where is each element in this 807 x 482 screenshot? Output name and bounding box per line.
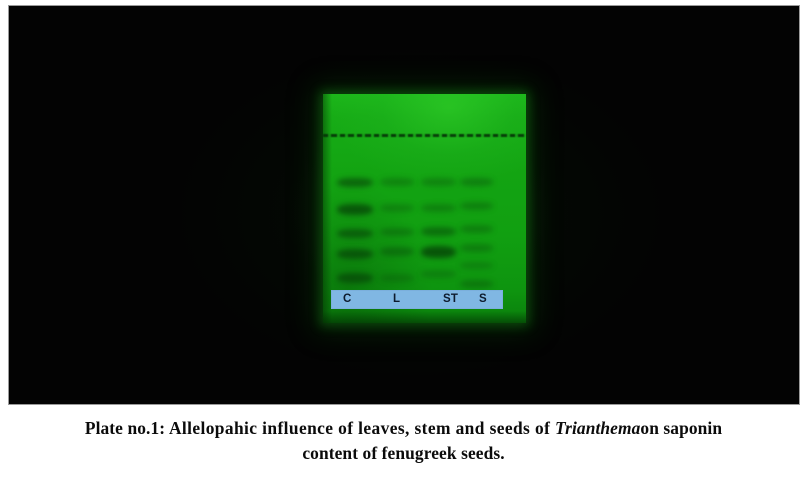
tlc-band [460, 225, 493, 233]
tlc-band [337, 273, 373, 283]
stem-lane [421, 94, 456, 323]
plate-left-shadow [323, 94, 332, 323]
tlc-band [460, 244, 493, 252]
tlc-band [421, 246, 456, 258]
lane-label-st: ST [443, 294, 458, 306]
figure-root: CLSTS Plate no.1: Allelopahic influence … [0, 0, 807, 482]
tlc-band [421, 227, 456, 236]
caption-line-1: Plate no.1: Allelopahic influence of lea… [85, 418, 722, 438]
tlc-band [380, 228, 414, 236]
tlc-band [337, 204, 373, 215]
tlc-band [337, 178, 373, 187]
tlc-band [460, 262, 493, 269]
tlc-band [337, 249, 373, 259]
tlc-band [460, 202, 493, 210]
tlc-band [421, 204, 456, 212]
lane-label-strip: CLSTS [331, 290, 503, 309]
lane-label-s: S [479, 294, 487, 306]
tlc-band [460, 280, 493, 288]
caption-prefix: Plate no.1: [85, 418, 165, 438]
tlc-band [380, 204, 414, 212]
caption-italic-term: Trianthema [555, 418, 640, 438]
caption-line-2: content of fenugreek seeds. [302, 443, 504, 463]
tlc-band [337, 229, 373, 238]
tlc-band [421, 178, 456, 186]
lane-label-c: C [343, 294, 352, 306]
caption-text-before-italic: Allelopahic influence of leaves, stem an… [165, 418, 555, 438]
seeds-lane [460, 94, 493, 323]
control-lane [337, 94, 373, 323]
tlc-plate: CLSTS [323, 94, 526, 323]
tlc-band [380, 178, 414, 186]
tlc-band [460, 178, 493, 186]
tlc-band [421, 270, 456, 278]
figure-caption: Plate no.1: Allelopahic influence of lea… [0, 416, 807, 466]
plate-photograph: CLSTS [8, 5, 800, 405]
tlc-band [380, 274, 414, 282]
leaves-lane [380, 94, 414, 323]
lane-label-l: L [393, 294, 400, 306]
caption-text-after-italic: on saponin [640, 418, 722, 438]
tlc-band [380, 247, 414, 256]
